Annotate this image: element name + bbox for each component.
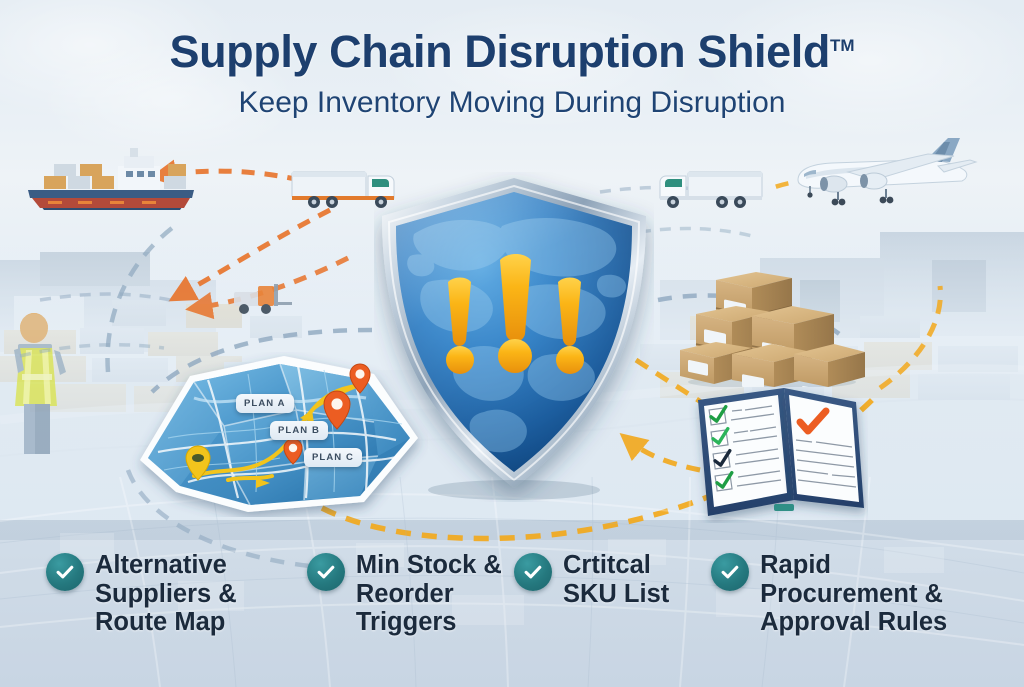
check-icon [514, 553, 552, 591]
map-plan-chip-c[interactable]: PLAN C [304, 448, 362, 467]
shield-with-alert [374, 172, 654, 502]
feature-item-alternative-suppliers[interactable]: Alternative Suppliers & Route Map [46, 539, 307, 637]
feature-label: Min Stock & Reorder Triggers [356, 551, 514, 637]
forklift-icon [228, 280, 304, 316]
feature-label: Rapid Procurement & Approval Rules [760, 551, 978, 637]
inventory-box-stack [680, 262, 865, 387]
check-icon [711, 553, 749, 591]
warehouse-worker [4, 300, 124, 465]
procurement-approval-checklist [688, 378, 868, 523]
feature-item-rapid-procurement[interactable]: Rapid Procurement & Approval Rules [711, 539, 978, 637]
check-icon [46, 553, 84, 591]
feature-item-min-stock[interactable]: Min Stock & Reorder Triggers [307, 539, 514, 637]
map-plan-chip-a[interactable]: PLAN A [236, 394, 294, 413]
feature-item-critical-sku-list[interactable]: Crtitcal SKU List [514, 539, 711, 608]
plan-b-label: PLAN B [278, 425, 320, 436]
check-icon [307, 553, 345, 591]
feature-label: Alternative Suppliers & Route Map [95, 551, 307, 637]
page-title-text: Supply Chain Disruption Shield [169, 26, 830, 77]
trademark-mark: TM [830, 36, 855, 55]
page-subtitle: Keep Inventory Moving During Disruption [0, 86, 1024, 120]
feature-list: Alternative Suppliers & Route Map Min St… [0, 539, 1024, 687]
map-plan-chip-b[interactable]: PLAN B [270, 421, 328, 440]
page-title: Supply Chain Disruption ShieldTM [0, 26, 1024, 78]
header: Supply Chain Disruption ShieldTM Keep In… [0, 0, 1024, 120]
infographic-canvas: PLAN A PLAN B PLAN C [0, 0, 1024, 687]
cargo-ship-icon [18, 138, 204, 218]
plan-a-label: PLAN A [244, 398, 286, 409]
feature-label: Crtitcal SKU List [563, 551, 711, 608]
delivery-truck-right-icon [650, 166, 766, 212]
plan-c-label: PLAN C [312, 452, 354, 463]
cargo-airplane-icon [778, 136, 980, 210]
